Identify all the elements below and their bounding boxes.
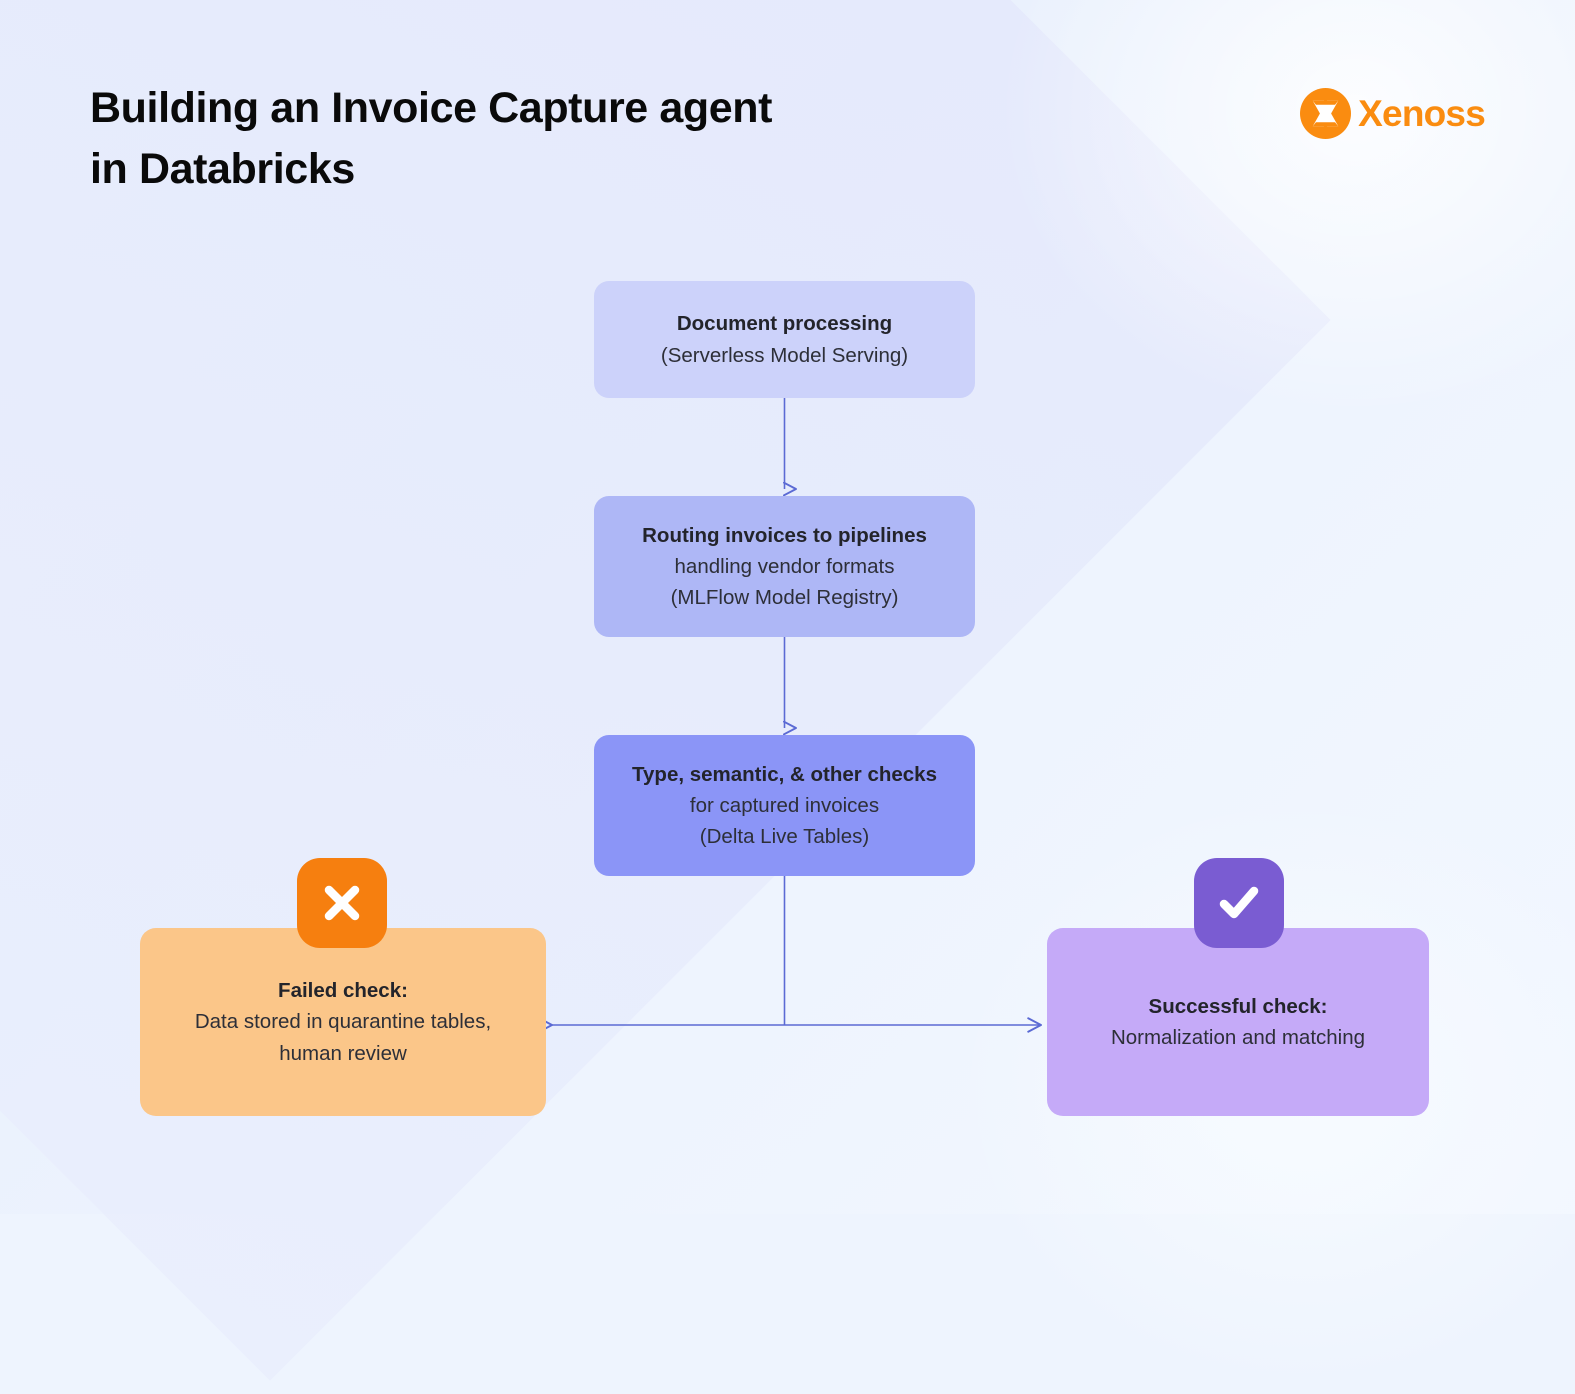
node-successful-check[interactable]: Successful check: Normalization and matc… xyxy=(1047,928,1429,1116)
node-subtitle: (Serverless Model Serving) xyxy=(661,340,908,371)
node-failed-check[interactable]: Failed check: Data stored in quarantine … xyxy=(140,928,546,1116)
outcome-subtitle: Data stored in quarantine tables, xyxy=(195,1006,491,1037)
node-subtitle-secondary: (Delta Live Tables) xyxy=(700,821,869,852)
cross-icon xyxy=(319,880,365,926)
outcome-title: Failed check: xyxy=(278,975,408,1006)
successful-check-badge xyxy=(1194,858,1284,948)
node-subtitle: for captured invoices xyxy=(690,790,879,821)
node-title: Routing invoices to pipelines xyxy=(642,520,927,551)
connector-checks-to-outcomes xyxy=(552,876,1041,1025)
node-subtitle: handling vendor formats xyxy=(675,551,895,582)
node-checks[interactable]: Type, semantic, & other checks for captu… xyxy=(594,735,975,876)
node-title: Type, semantic, & other checks xyxy=(632,759,937,790)
node-document-processing[interactable]: Document processing (Serverless Model Se… xyxy=(594,281,975,398)
outcome-subtitle: Normalization and matching xyxy=(1111,1022,1365,1053)
failed-check-badge xyxy=(297,858,387,948)
node-title: Document processing xyxy=(677,308,892,339)
node-subtitle-secondary: (MLFlow Model Registry) xyxy=(671,582,899,613)
check-icon xyxy=(1214,878,1264,928)
flow-diagram: Document processing (Serverless Model Se… xyxy=(0,0,1575,1214)
outcome-subtitle-secondary: human review xyxy=(279,1038,407,1069)
node-routing-invoices[interactable]: Routing invoices to pipelines handling v… xyxy=(594,496,975,637)
outcome-title: Successful check: xyxy=(1149,991,1328,1022)
